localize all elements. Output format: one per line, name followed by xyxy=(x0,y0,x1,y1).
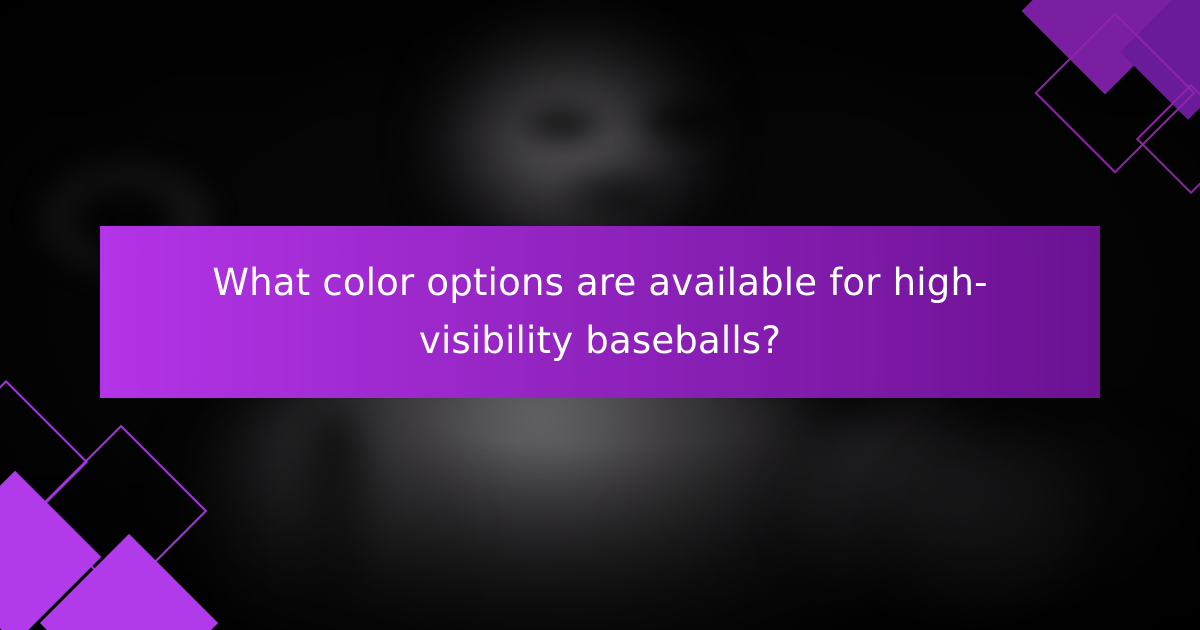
page-title: What color options are available for hig… xyxy=(156,254,1044,370)
headline-banner: What color options are available for hig… xyxy=(100,226,1100,398)
social-card: What color options are available for hig… xyxy=(0,0,1200,630)
